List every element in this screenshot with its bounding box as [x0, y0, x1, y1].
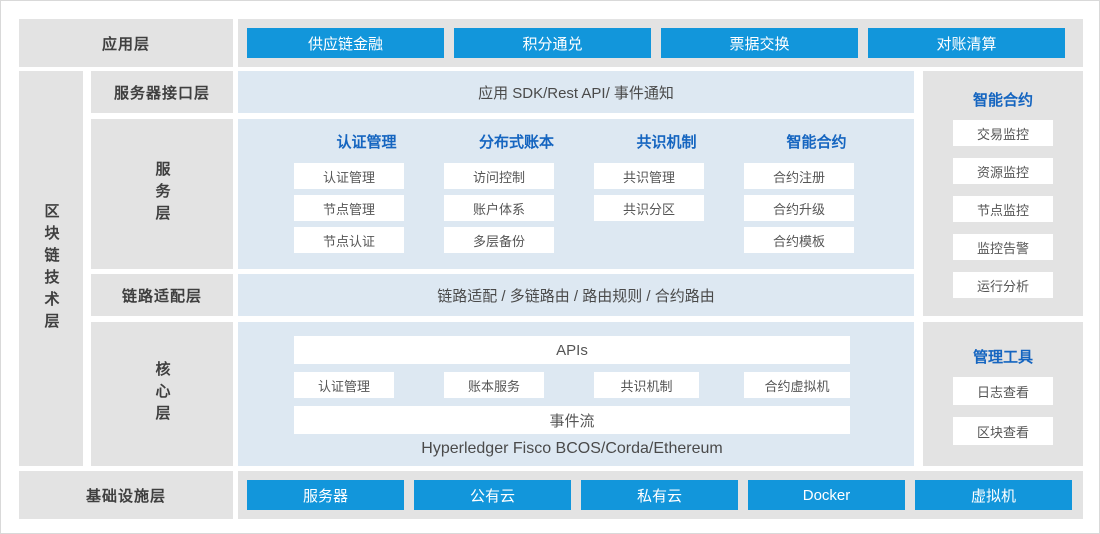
core-apis-bar-label: APIs: [556, 342, 588, 359]
right-panel-management-tools-head: 管理工具: [923, 344, 1083, 368]
service-layer-content: 认证管理 认证管理 节点管理 节点认证 分布式账本 访问控制 账户体系 多层备份…: [238, 119, 914, 269]
right-panel-management-tools-item-0-label: 日志查看: [977, 382, 1029, 401]
right-panel-smart-contract-item-4-label: 运行分析: [977, 276, 1029, 295]
service-column-3-item-2[interactable]: 合约模板: [744, 227, 854, 253]
core-event-bar[interactable]: 事件流: [294, 406, 850, 434]
core-module-3[interactable]: 合约虚拟机: [744, 372, 850, 398]
core-module-0[interactable]: 认证管理: [294, 372, 394, 398]
service-column-1-head: 分布式账本: [444, 129, 589, 153]
app-item-3[interactable]: 对账清算: [868, 28, 1065, 58]
infrastructure-layer-items-band: 服务器 公有云 私有云 Docker 虚拟机: [238, 471, 1083, 519]
infra-item-1[interactable]: 公有云: [414, 480, 571, 510]
infra-item-2-label: 私有云: [637, 485, 682, 506]
service-column-1-item-1[interactable]: 账户体系: [444, 195, 554, 221]
core-layer-content: APIs 认证管理 账本服务 共识机制 合约虚拟机 事件流 Hyperledge…: [238, 322, 914, 466]
service-column-1-item-2-label: 多层备份: [473, 231, 525, 250]
service-column-0-item-0-label: 认证管理: [323, 167, 375, 186]
core-event-bar-label: 事件流: [549, 410, 594, 431]
infra-item-3-label: Docker: [803, 487, 851, 504]
infra-item-1-label: 公有云: [470, 485, 515, 506]
core-footer-label: Hyperledger Fisco BCOS/Corda/Ethereum: [421, 440, 722, 458]
application-layer-label: 应用层: [102, 33, 150, 54]
service-column-3-item-1-label: 合约升级: [773, 199, 825, 218]
infrastructure-layer-label-box: 基础设施层: [19, 471, 233, 519]
blockchain-tech-layer-label: 区块链技术层: [41, 203, 62, 335]
right-panel-management-tools-item-0[interactable]: 日志查看: [953, 377, 1053, 405]
service-column-0-item-2[interactable]: 节点认证: [294, 227, 404, 253]
blockchain-tech-layer-label-box: 区块链技术层: [19, 71, 83, 466]
app-item-2-label: 票据交换: [729, 33, 789, 54]
server-interface-band-text: 应用 SDK/Rest API/ 事件通知: [478, 82, 674, 103]
service-layer-label: 服务层: [152, 161, 173, 227]
application-layer-items-band: 供应链金融 积分通兑 票据交换 对账清算: [238, 19, 1083, 67]
service-column-1-item-0-label: 访问控制: [473, 167, 525, 186]
service-column-0-head-label: 认证管理: [336, 131, 396, 152]
core-footer: Hyperledger Fisco BCOS/Corda/Ethereum: [294, 436, 850, 462]
core-module-2[interactable]: 共识机制: [594, 372, 699, 398]
service-column-3-head-label: 智能合约: [786, 131, 846, 152]
infra-item-2[interactable]: 私有云: [581, 480, 738, 510]
right-panel-smart-contract-head-label: 智能合约: [973, 89, 1033, 110]
service-column-1-item-2[interactable]: 多层备份: [444, 227, 554, 253]
right-panel-smart-contract-item-3-label: 监控告警: [977, 238, 1029, 257]
infra-item-0[interactable]: 服务器: [247, 480, 404, 510]
link-adaptation-layer-label-box: 链路适配层: [91, 274, 233, 316]
right-panel-management-tools-head-label: 管理工具: [973, 346, 1033, 367]
infra-item-4[interactable]: 虚拟机: [915, 480, 1072, 510]
app-item-3-label: 对账清算: [936, 33, 996, 54]
service-column-0-item-2-label: 节点认证: [323, 231, 375, 250]
right-panel-smart-contract-item-1-label: 资源监控: [977, 162, 1029, 181]
right-panel-smart-contract-item-3[interactable]: 监控告警: [953, 234, 1053, 260]
service-column-3-item-2-label: 合约模板: [773, 231, 825, 250]
right-panel-smart-contract-item-4[interactable]: 运行分析: [953, 272, 1053, 298]
service-column-2-head-label: 共识机制: [636, 131, 696, 152]
infrastructure-layer-label: 基础设施层: [86, 485, 166, 506]
right-panel-management-tools: 管理工具 日志查看 区块查看: [923, 322, 1083, 466]
infra-item-0-label: 服务器: [303, 485, 348, 506]
service-column-2-item-0[interactable]: 共识管理: [594, 163, 704, 189]
right-panel-smart-contract-head: 智能合约: [923, 87, 1083, 111]
service-column-2-head: 共识机制: [594, 129, 739, 153]
link-adaptation-band: 链路适配 / 多链路由 / 路由规则 / 合约路由: [238, 274, 914, 316]
service-column-3-item-1[interactable]: 合约升级: [744, 195, 854, 221]
infra-item-3[interactable]: Docker: [748, 480, 905, 510]
app-item-0-label: 供应链金融: [308, 33, 383, 54]
service-column-1-head-label: 分布式账本: [479, 131, 554, 152]
service-layer-label-box: 服务层: [91, 119, 233, 269]
service-column-0-item-1-label: 节点管理: [323, 199, 375, 218]
service-column-2-item-0-label: 共识管理: [623, 167, 675, 186]
service-column-0-item-1[interactable]: 节点管理: [294, 195, 404, 221]
architecture-diagram: 应用层 供应链金融 积分通兑 票据交换 对账清算 区块链技术层 服务器接口层 应…: [0, 0, 1100, 534]
app-item-1[interactable]: 积分通兑: [454, 28, 651, 58]
app-item-0[interactable]: 供应链金融: [247, 28, 444, 58]
core-module-1[interactable]: 账本服务: [444, 372, 544, 398]
service-column-2-item-1[interactable]: 共识分区: [594, 195, 704, 221]
core-module-2-label: 共识机制: [620, 376, 672, 395]
service-column-3-item-0-label: 合约注册: [773, 167, 825, 186]
right-panel-smart-contract-item-1[interactable]: 资源监控: [953, 158, 1053, 184]
service-column-0-item-0[interactable]: 认证管理: [294, 163, 404, 189]
core-module-0-label: 认证管理: [318, 376, 370, 395]
service-column-1-item-1-label: 账户体系: [473, 199, 525, 218]
core-layer-label-box: 核心层: [91, 322, 233, 466]
server-interface-band: 应用 SDK/Rest API/ 事件通知: [238, 71, 914, 113]
right-panel-smart-contract-item-2[interactable]: 节点监控: [953, 196, 1053, 222]
service-column-3-head: 智能合约: [744, 129, 889, 153]
service-column-3-item-0[interactable]: 合约注册: [744, 163, 854, 189]
server-interface-layer-label: 服务器接口层: [114, 82, 210, 103]
right-panel-smart-contract-item-2-label: 节点监控: [977, 200, 1029, 219]
server-interface-layer-label-box: 服务器接口层: [91, 71, 233, 113]
right-panel-smart-contract-item-0-label: 交易监控: [977, 124, 1029, 143]
core-module-3-label: 合约虚拟机: [764, 376, 829, 395]
core-module-1-label: 账本服务: [468, 376, 520, 395]
link-adaptation-band-text: 链路适配 / 多链路由 / 路由规则 / 合约路由: [437, 285, 715, 306]
right-panel-management-tools-item-1[interactable]: 区块查看: [953, 417, 1053, 445]
service-column-2-item-1-label: 共识分区: [623, 199, 675, 218]
infra-item-4-label: 虚拟机: [971, 485, 1016, 506]
application-layer-label-box: 应用层: [19, 19, 233, 67]
right-panel-smart-contract-item-0[interactable]: 交易监控: [953, 120, 1053, 146]
right-panel-smart-contract: 智能合约 交易监控 资源监控 节点监控 监控告警 运行分析: [923, 71, 1083, 316]
core-layer-label: 核心层: [152, 361, 173, 427]
service-column-1-item-0[interactable]: 访问控制: [444, 163, 554, 189]
app-item-1-label: 积分通兑: [522, 33, 582, 54]
app-item-2[interactable]: 票据交换: [661, 28, 858, 58]
core-apis-bar[interactable]: APIs: [294, 336, 850, 364]
service-column-0-head: 认证管理: [294, 129, 439, 153]
link-adaptation-layer-label: 链路适配层: [122, 285, 202, 306]
right-panel-management-tools-item-1-label: 区块查看: [977, 422, 1029, 441]
